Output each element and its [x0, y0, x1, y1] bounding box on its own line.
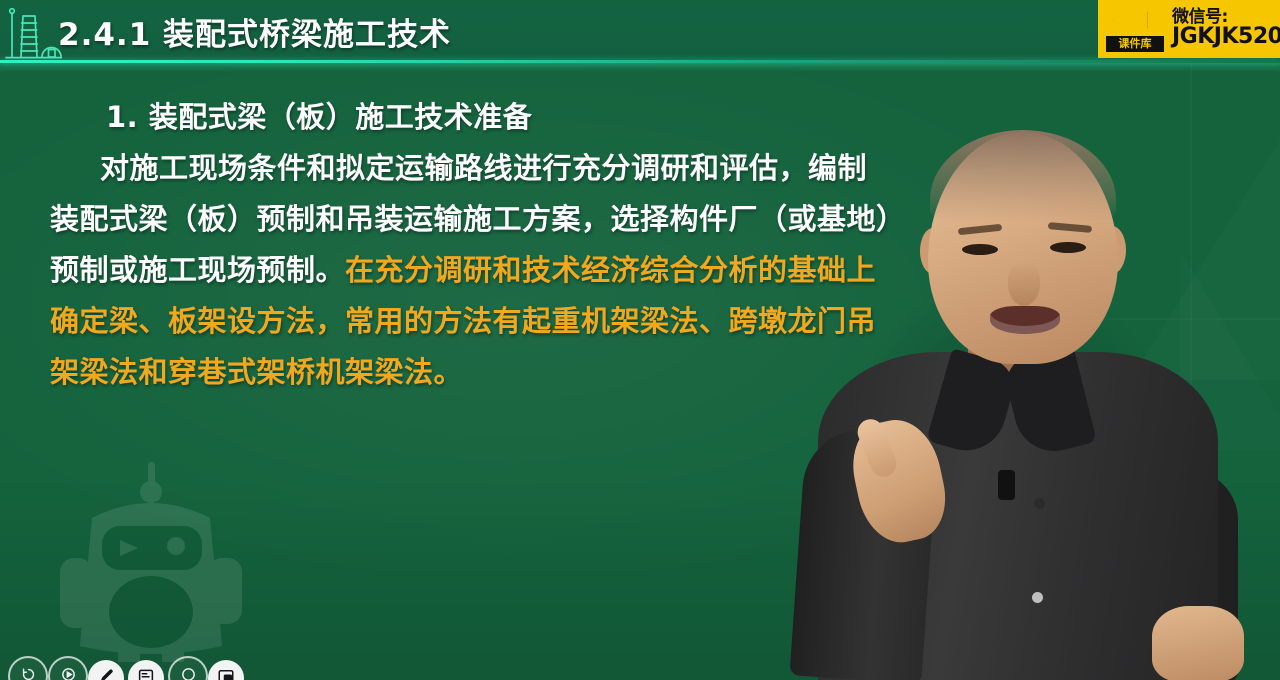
control-note[interactable] — [128, 660, 164, 680]
screenshot-icon — [217, 667, 235, 680]
slide-stage: 2.4.1 装配式桥梁施工技术 建工 课件库 微信号: JGKJK520 1. … — [0, 0, 1280, 680]
wechat-info: 微信号: JGKJK520 — [1172, 9, 1280, 49]
page-title: 2.4.1 装配式桥梁施工技术 — [58, 6, 451, 56]
body-segment: 预制或施工现场预制。 — [50, 253, 345, 287]
body-segment: 确定梁、板架设方法，常用的方法有起重机架梁法、跨墩龙门吊 — [50, 304, 876, 338]
body-line-para-line-4: 确定梁、板架设方法，常用的方法有起重机架梁法、跨墩龙门吊 — [50, 296, 930, 347]
slide-body: 1. 装配式梁（板）施工技术准备对施工现场条件和拟定运输路线进行充分调研和评估，… — [50, 92, 930, 398]
control-screenshot[interactable] — [208, 660, 244, 680]
pen-icon — [97, 667, 115, 680]
body-line-para-line-2: 装配式梁（板）预制和吊装运输施工方案，选择构件厂（或基地） — [50, 194, 930, 245]
body-line-para-line-3: 预制或施工现场预制。在充分调研和技术经济综合分析的基础上 — [50, 245, 930, 296]
rewind-icon — [20, 666, 37, 680]
construction-tower-icon — [4, 4, 62, 62]
control-rewind[interactable] — [8, 656, 48, 680]
control-pen[interactable] — [88, 660, 124, 680]
brand-logo-top-text: 建工 — [1104, 6, 1166, 36]
body-line-para-line-1: 对施工现场条件和拟定运输路线进行充分调研和评估，编制 — [50, 143, 930, 194]
body-line-para-line-5: 架梁法和穿巷式架桥机架梁法。 — [50, 347, 930, 398]
control-circle[interactable] — [168, 656, 208, 680]
body-segment: 装配式梁（板）预制和吊装运输施工方案，选择构件厂（或基地） — [50, 202, 906, 236]
note-icon — [137, 667, 155, 680]
body-segment: 1. 装配式梁（板）施工技术准备 — [106, 100, 532, 134]
brand-logo: 建工 课件库 — [1104, 4, 1166, 54]
body-segment: 在充分调研和技术经济综合分析的基础上 — [345, 253, 876, 287]
body-line-heading: 1. 装配式梁（板）施工技术准备 — [50, 92, 930, 143]
body-segment: 对施工现场条件和拟定运输路线进行充分调研和评估，编制 — [100, 151, 867, 185]
play-icon — [60, 666, 77, 680]
brand-logo-bottom-text: 课件库 — [1106, 36, 1164, 52]
wechat-id: JGKJK520 — [1172, 26, 1280, 48]
body-segment: 架梁法和穿巷式架桥机架梁法。 — [50, 355, 463, 389]
wechat-badge[interactable]: 建工 课件库 微信号: JGKJK520 — [1098, 0, 1280, 58]
player-control-bar[interactable] — [0, 656, 1280, 680]
control-play[interactable] — [48, 656, 88, 680]
circle-icon — [180, 666, 197, 680]
header-divider-glow — [0, 63, 1280, 72]
